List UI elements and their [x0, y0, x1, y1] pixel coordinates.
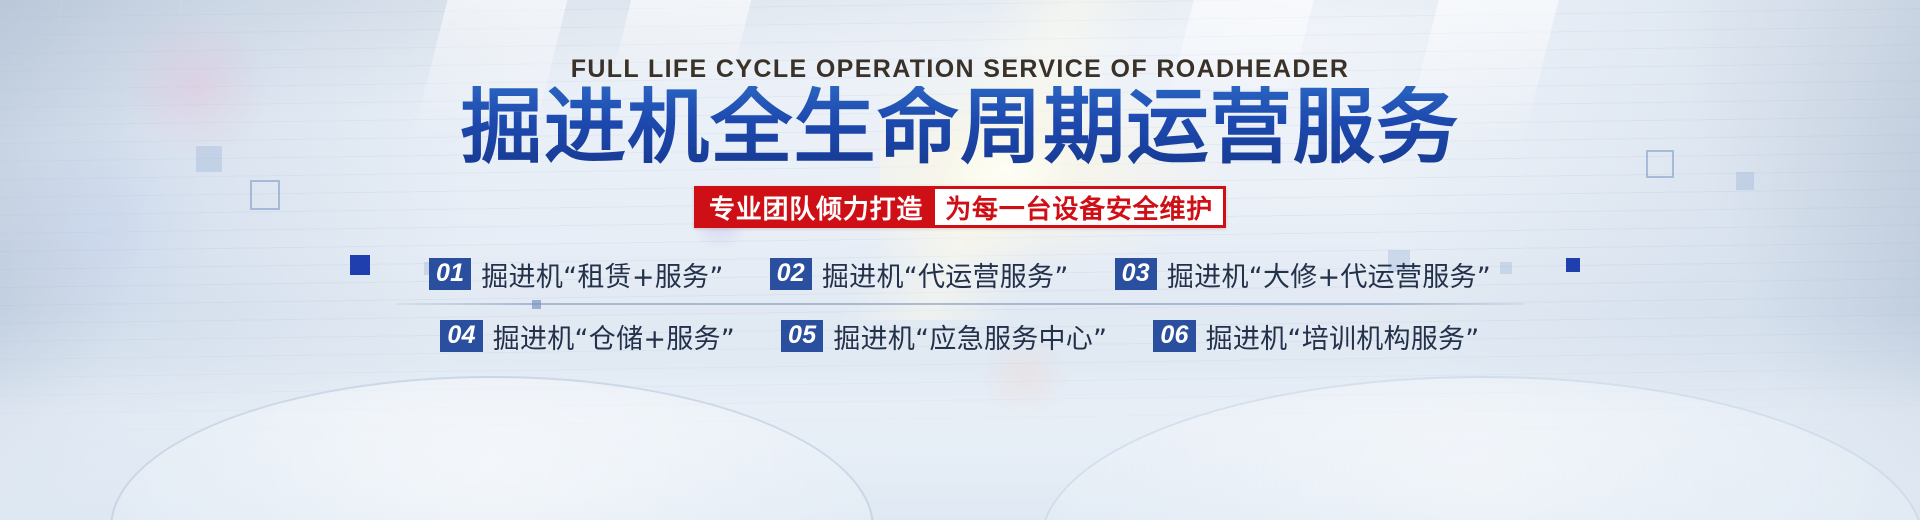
service-number-badge: 06	[1153, 320, 1195, 353]
service-item-06[interactable]: 06 掘进机“培训机构服务”	[1153, 317, 1479, 356]
slogan-container: 专业团队倾力打造 为每一台设备安全维护	[0, 186, 1920, 228]
service-list-divider	[396, 303, 1524, 305]
service-item-01[interactable]: 01 掘进机“租赁+服务”	[429, 255, 724, 294]
banner-content: FULL LIFE CYCLE OPERATION SERVICE OF ROA…	[0, 0, 1920, 520]
service-number-badge: 05	[781, 320, 823, 353]
service-item-label: 掘进机“租赁+服务”	[481, 255, 723, 294]
slogan-badge: 专业团队倾力打造 为每一台设备安全维护	[694, 186, 1226, 228]
service-item-03[interactable]: 03 掘进机“大修+代运营服务”	[1115, 255, 1491, 294]
service-item-label: 掘进机“仓储+服务”	[493, 317, 735, 356]
service-item-02[interactable]: 02 掘进机“代运营服务”	[770, 255, 1069, 294]
service-row: 01 掘进机“租赁+服务” 02 掘进机“代运营服务” 03 掘进机“大修+代运…	[429, 246, 1491, 302]
service-item-label: 掘进机“应急服务中心”	[833, 317, 1107, 356]
service-number-badge: 03	[1115, 258, 1157, 291]
service-number-badge: 04	[440, 320, 482, 353]
promotional-banner: FULL LIFE CYCLE OPERATION SERVICE OF ROA…	[0, 0, 1920, 520]
service-item-04[interactable]: 04 掘进机“仓储+服务”	[440, 317, 735, 356]
service-item-label: 掘进机“培训机构服务”	[1206, 317, 1480, 356]
slogan-primary: 专业团队倾力打造	[697, 189, 935, 225]
service-row: 04 掘进机“仓储+服务” 05 掘进机“应急服务中心” 06 掘进机“培训机构…	[440, 308, 1479, 364]
slogan-secondary: 为每一台设备安全维护	[935, 189, 1223, 225]
service-list: 01 掘进机“租赁+服务” 02 掘进机“代运营服务” 03 掘进机“大修+代运…	[0, 246, 1920, 364]
banner-headline: 掘进机全生命周期运营服务	[0, 86, 1920, 170]
service-item-05[interactable]: 05 掘进机“应急服务中心”	[781, 317, 1107, 356]
service-number-badge: 02	[770, 258, 812, 291]
service-number-badge: 01	[429, 258, 471, 291]
service-item-label: 掘进机“代运营服务”	[822, 255, 1069, 294]
service-item-label: 掘进机“大修+代运营服务”	[1167, 255, 1491, 294]
divider-tick	[532, 300, 541, 309]
